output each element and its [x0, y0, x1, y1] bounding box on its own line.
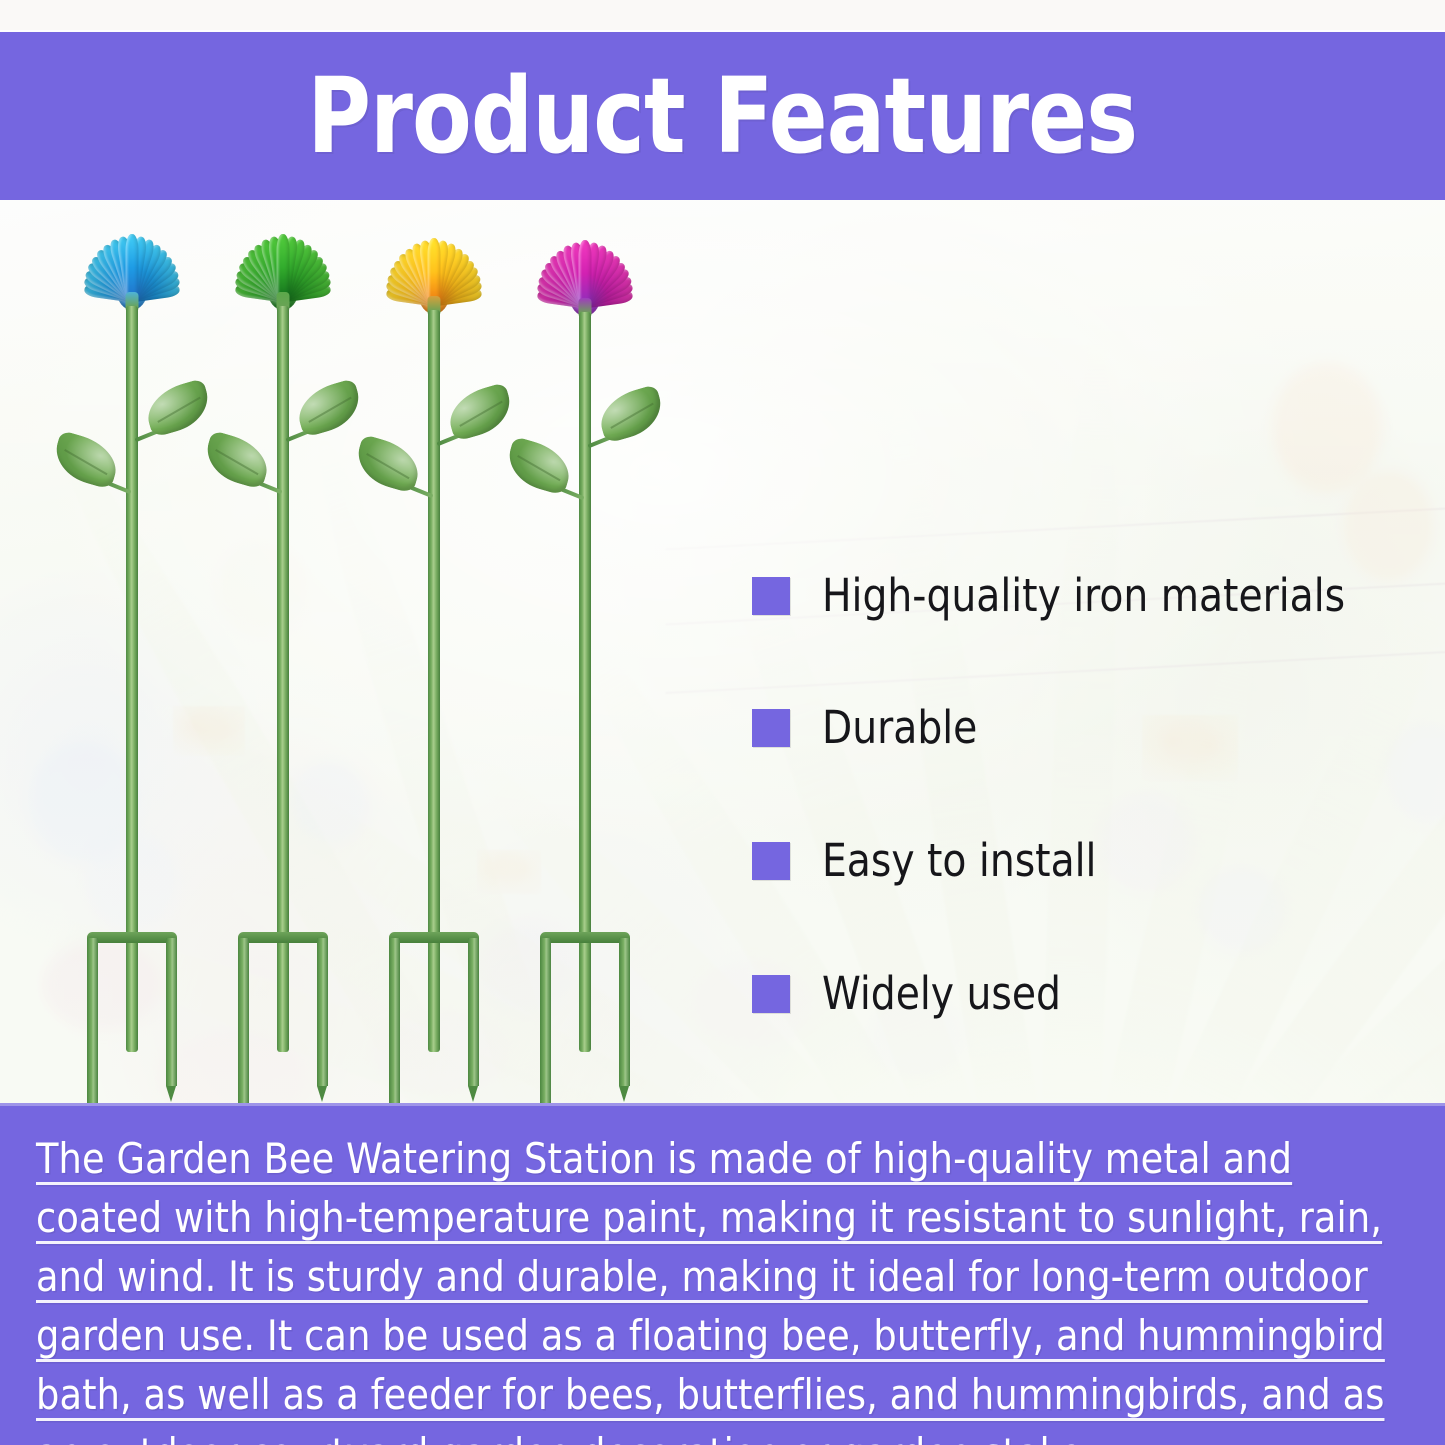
feature-item-3[interactable]: Easy to install — [752, 837, 1105, 884]
leaf-left — [502, 436, 576, 496]
leaf-vein — [215, 449, 258, 475]
ground-stake-fork — [540, 932, 630, 1103]
product-features-infographic: Product Features High-quality iron mater… — [0, 0, 1445, 1445]
bullet-square-icon — [752, 842, 790, 880]
fork-crossbar — [540, 932, 630, 943]
feature-list: High-quality iron materialsDurableEasy t… — [752, 400, 1442, 1103]
leaf-right — [594, 384, 668, 444]
leaf-left — [351, 434, 425, 494]
ground-stake-fork — [238, 932, 328, 1103]
main-content-area: High-quality iron materialsDurableEasy t… — [0, 200, 1445, 1103]
leaf-vein — [366, 453, 409, 479]
fork-crossbar — [87, 932, 177, 943]
petal — [277, 234, 290, 296]
fork-prong-short — [166, 938, 177, 1086]
bullet-square-icon — [752, 709, 790, 747]
leaf-vein — [64, 449, 107, 475]
feature-label: Easy to install — [822, 837, 1096, 884]
page-title: Product Features — [308, 64, 1138, 168]
bullet-square-icon — [752, 577, 790, 615]
flower-head-yellow — [361, 218, 507, 304]
fork-prong-long — [540, 938, 551, 1103]
feature-label: High-quality iron materials — [822, 572, 1345, 619]
leaf-left — [200, 430, 274, 490]
fork-crossbar — [238, 932, 328, 943]
feature-label: Widely used — [822, 970, 1061, 1017]
petal — [579, 240, 592, 302]
flower-stakes-group — [0, 200, 720, 1103]
fork-prong-long — [238, 938, 249, 1103]
petal-group — [361, 218, 507, 304]
flower-stake-magenta — [495, 200, 675, 1103]
fork-prong-short — [468, 938, 479, 1086]
fork-prong-long — [389, 938, 400, 1103]
flower-head-magenta — [512, 220, 658, 306]
header-banner: Product Features — [0, 32, 1445, 200]
petal — [126, 234, 139, 296]
leaf-vein — [517, 455, 560, 481]
feature-item-1[interactable]: High-quality iron materials — [752, 572, 1361, 619]
product-description: The Garden Bee Watering Station is made … — [36, 1129, 1392, 1445]
flower-head-green — [210, 214, 356, 300]
ground-stake-fork — [87, 932, 177, 1103]
leaf-left — [49, 430, 123, 490]
fork-prong-long — [87, 938, 98, 1103]
flower-head-blue — [59, 214, 205, 300]
petal — [428, 238, 441, 300]
top-border-strip — [0, 0, 1445, 32]
fork-crossbar — [389, 932, 479, 943]
petal-group — [59, 214, 205, 300]
feature-item-4[interactable]: Widely used — [752, 970, 1068, 1017]
feature-label: Durable — [822, 704, 977, 751]
fork-prong-short — [317, 938, 328, 1086]
petal-group — [512, 220, 658, 306]
fork-prong-short — [619, 938, 630, 1086]
petal-group — [210, 214, 356, 300]
ground-stake-fork — [389, 932, 479, 1103]
description-banner: The Garden Bee Watering Station is made … — [0, 1103, 1445, 1445]
leaf-vein — [610, 403, 653, 429]
feature-item-2[interactable]: Durable — [752, 704, 982, 751]
bullet-square-icon — [752, 975, 790, 1013]
